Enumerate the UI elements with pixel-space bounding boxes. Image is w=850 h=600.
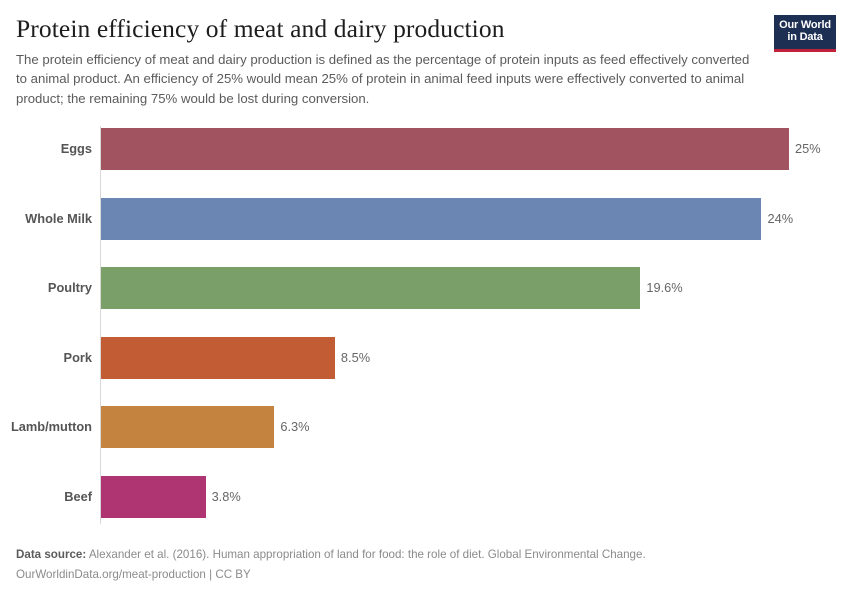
bar-category-label: Lamb/mutton — [0, 406, 92, 448]
bar-value-label: 8.5% — [341, 337, 370, 379]
bar-value-label: 25% — [795, 128, 821, 170]
bar-row: Lamb/mutton6.3% — [0, 406, 850, 448]
owid-logo[interactable]: Our World in Data — [774, 15, 836, 52]
y-axis-line — [100, 126, 101, 524]
data-source-label: Data source: — [16, 548, 86, 561]
bar-poultry[interactable] — [101, 267, 640, 309]
attribution-line[interactable]: OurWorldinData.org/meat-production | CC … — [16, 565, 836, 584]
data-source-line: Data source: Alexander et al. (2016). Hu… — [16, 545, 836, 564]
bar-category-label: Beef — [0, 476, 92, 518]
bar-whole-milk[interactable] — [101, 198, 761, 240]
bar-row: Pork8.5% — [0, 337, 850, 379]
page-title: Protein efficiency of meat and dairy pro… — [16, 14, 834, 43]
bar-chart: Eggs25%Whole Milk24%Poultry19.6%Pork8.5%… — [0, 126, 850, 524]
bar-category-label: Whole Milk — [0, 198, 92, 240]
chart-subtitle: The protein efficiency of meat and dairy… — [16, 50, 751, 107]
owid-logo-line2: in Data — [779, 31, 831, 43]
chart-header: Protein efficiency of meat and dairy pro… — [0, 0, 850, 108]
bar-category-label: Poultry — [0, 267, 92, 309]
bar-value-label: 3.8% — [212, 476, 241, 518]
bar-row: Eggs25% — [0, 128, 850, 170]
bar-row: Poultry19.6% — [0, 267, 850, 309]
chart-footer: Data source: Alexander et al. (2016). Hu… — [16, 545, 836, 584]
bar-row: Beef3.8% — [0, 476, 850, 518]
bar-lamb-mutton[interactable] — [101, 406, 274, 448]
bar-category-label: Eggs — [0, 128, 92, 170]
owid-logo-line1: Our World — [779, 19, 831, 31]
bar-beef[interactable] — [101, 476, 206, 518]
bar-value-label: 19.6% — [646, 267, 682, 309]
bar-eggs[interactable] — [101, 128, 789, 170]
bar-row: Whole Milk24% — [0, 198, 850, 240]
data-source-text: Alexander et al. (2016). Human appropria… — [89, 548, 646, 561]
bar-category-label: Pork — [0, 337, 92, 379]
bar-value-label: 24% — [767, 198, 793, 240]
bar-value-label: 6.3% — [280, 406, 309, 448]
bar-pork[interactable] — [101, 337, 335, 379]
